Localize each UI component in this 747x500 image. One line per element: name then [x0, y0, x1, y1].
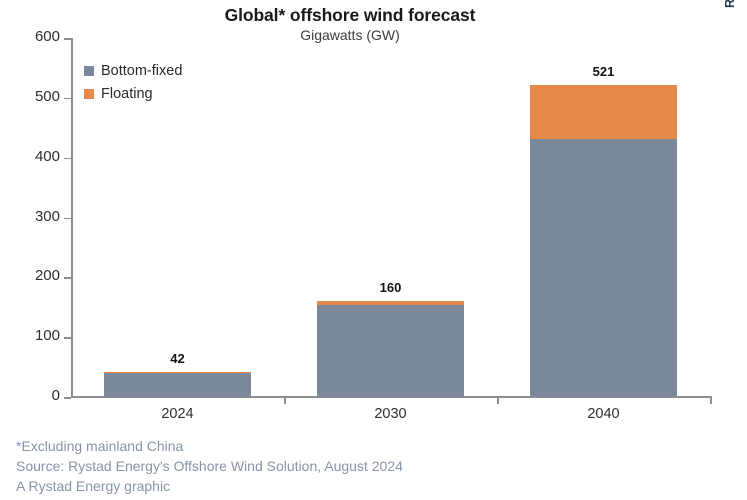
footnote-line-3: A Rystad Energy graphic [16, 476, 716, 496]
bar-group-2024[interactable] [104, 372, 251, 397]
y-axis-tick-mark [64, 38, 71, 40]
y-axis-tick-label: 600 [35, 28, 60, 45]
footnote-line-1: *Excluding mainland China [16, 436, 716, 456]
chart-figure: Global* offshore wind forecast Gigawatts… [0, 0, 747, 500]
footnote-line-2: Source: Rystad Energy's Offshore Wind So… [16, 456, 716, 476]
y-axis-tick-mark [64, 277, 71, 279]
logo-text-rystad: Rystad [723, 0, 737, 8]
y-axis-tick-label: 200 [35, 267, 60, 284]
bar-segment-2024-floating[interactable] [104, 372, 251, 373]
x-axis-tick-mark [710, 396, 712, 404]
y-axis-tick-label: 100 [35, 327, 60, 344]
legend-item-floating[interactable]: Floating [84, 84, 182, 104]
bar-segment-2030-floating[interactable] [317, 301, 464, 305]
legend-swatch-icon [84, 66, 94, 76]
bar-total-label-2024: 42 [104, 351, 251, 366]
y-axis-tick-label: 0 [52, 387, 60, 404]
y-axis-tick-mark [64, 218, 71, 220]
y-axis-tick-mark [64, 158, 71, 160]
bar-total-label-2030: 160 [317, 280, 464, 295]
x-axis-tick-mark [497, 396, 499, 404]
x-axis-tick-label-2024: 2024 [71, 406, 284, 422]
y-axis-tick-label: 500 [35, 88, 60, 105]
footnotes-block: *Excluding mainland ChinaSource: Rystad … [16, 436, 716, 496]
bar-segment-2040-bottom-fixed[interactable] [530, 139, 677, 397]
chart-legend: Bottom-fixedFloating [84, 61, 182, 107]
bar-group-2030[interactable] [317, 301, 464, 397]
bar-segment-2024-bottom-fixed[interactable] [104, 372, 251, 397]
legend-item-bottom-fixed[interactable]: Bottom-fixed [84, 61, 182, 81]
bar-segment-2040-floating[interactable] [530, 85, 677, 139]
y-axis-tick-mark [64, 337, 71, 339]
x-axis-tick-label-2030: 2030 [284, 406, 497, 422]
y-axis-tick-mark [64, 98, 71, 100]
x-axis-tick-label-2040: 2040 [497, 406, 710, 422]
rystad-energy-logo: RystadEnergy [719, 8, 741, 128]
bar-group-2040[interactable] [530, 85, 677, 397]
y-axis-tick-label: 400 [35, 148, 60, 165]
legend-swatch-icon [84, 89, 94, 99]
bar-segment-2030-bottom-fixed[interactable] [317, 305, 464, 397]
legend-label: Floating [101, 86, 153, 102]
x-axis-tick-mark [284, 396, 286, 404]
chart-title: Global* offshore wind forecast [0, 5, 700, 26]
bar-total-label-2040: 521 [530, 64, 677, 79]
y-axis-tick-label: 300 [35, 208, 60, 225]
y-axis-tick-mark [64, 397, 71, 399]
legend-label: Bottom-fixed [101, 63, 182, 79]
